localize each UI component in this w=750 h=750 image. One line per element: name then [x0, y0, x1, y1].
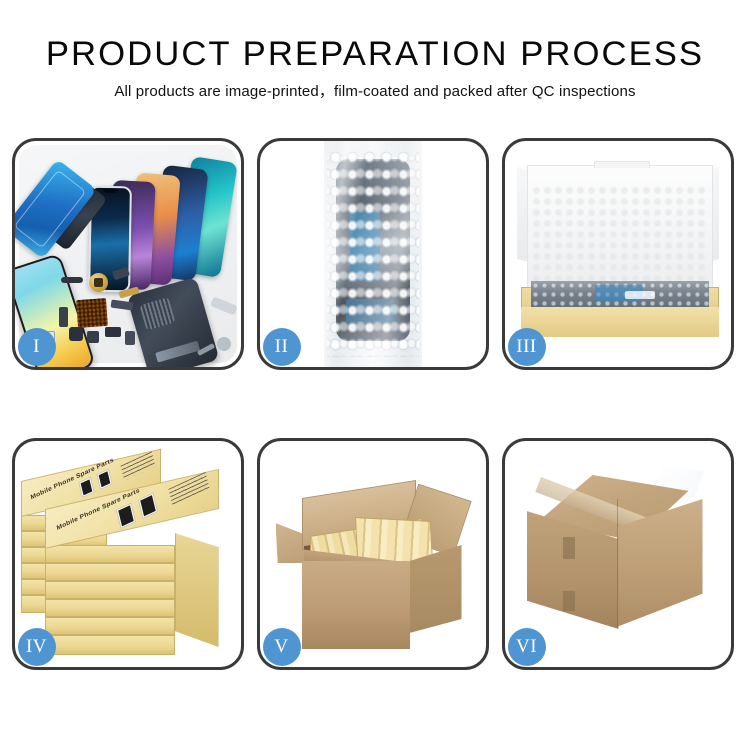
process-step-1: I	[12, 138, 244, 370]
content-label	[625, 291, 655, 299]
phone-notch	[102, 189, 118, 193]
box-artwork-screen	[137, 492, 157, 519]
carton-front-face	[302, 561, 410, 649]
box-artwork-screen	[78, 477, 94, 499]
carton-seam-mark	[563, 591, 575, 611]
process-step-6: VI	[502, 438, 734, 670]
retail-box-stacked	[45, 563, 175, 581]
retail-box-stacked	[45, 599, 175, 617]
step-badge-6: VI	[508, 628, 546, 666]
box-artwork-textlines	[168, 472, 209, 506]
retail-box-stacked	[45, 635, 175, 655]
page-title: PRODUCT PREPARATION PROCESS	[0, 34, 750, 74]
spare-part	[69, 327, 83, 341]
carton-corner-edge	[617, 499, 619, 627]
step-badge-3: III	[508, 328, 546, 366]
step-badge-4: IV	[18, 628, 56, 666]
step-badge-1: I	[18, 328, 56, 366]
repair-tool	[217, 337, 231, 351]
process-step-3: III	[502, 138, 734, 370]
process-step-4: Mobile Phone Spare Parts Mobile Phone Sp…	[12, 438, 244, 670]
spare-part	[87, 331, 99, 343]
process-step-2: II	[257, 138, 489, 370]
foam-lining	[531, 185, 709, 289]
box-artwork-screen	[115, 503, 135, 530]
process-step-5: V	[257, 438, 489, 670]
carton-seam-mark	[563, 537, 575, 559]
spare-part	[125, 331, 135, 345]
retail-box-stacked	[45, 617, 175, 635]
spare-part	[61, 277, 83, 283]
spare-part	[105, 327, 121, 337]
step-badge-5: V	[263, 628, 301, 666]
spare-part	[59, 307, 68, 327]
box-artwork-textlines	[120, 451, 155, 480]
ic-pad-array-component	[76, 298, 108, 328]
page-header: PRODUCT PREPARATION PROCESS All products…	[0, 0, 750, 101]
retail-box-stacked	[45, 545, 175, 563]
bubble-wrap-sleeve	[324, 141, 422, 367]
step-badge-2: II	[263, 328, 301, 366]
retail-box-side-wall	[175, 533, 219, 647]
page-subtitle: All products are image-printed，film-coat…	[0, 83, 750, 101]
box-artwork-screen	[96, 468, 112, 490]
process-steps-grid: I II	[0, 138, 750, 738]
mailer-box-front	[521, 307, 719, 337]
film-sheen	[324, 141, 422, 367]
speaker-component	[89, 273, 108, 292]
retail-box-stacked	[45, 581, 175, 599]
